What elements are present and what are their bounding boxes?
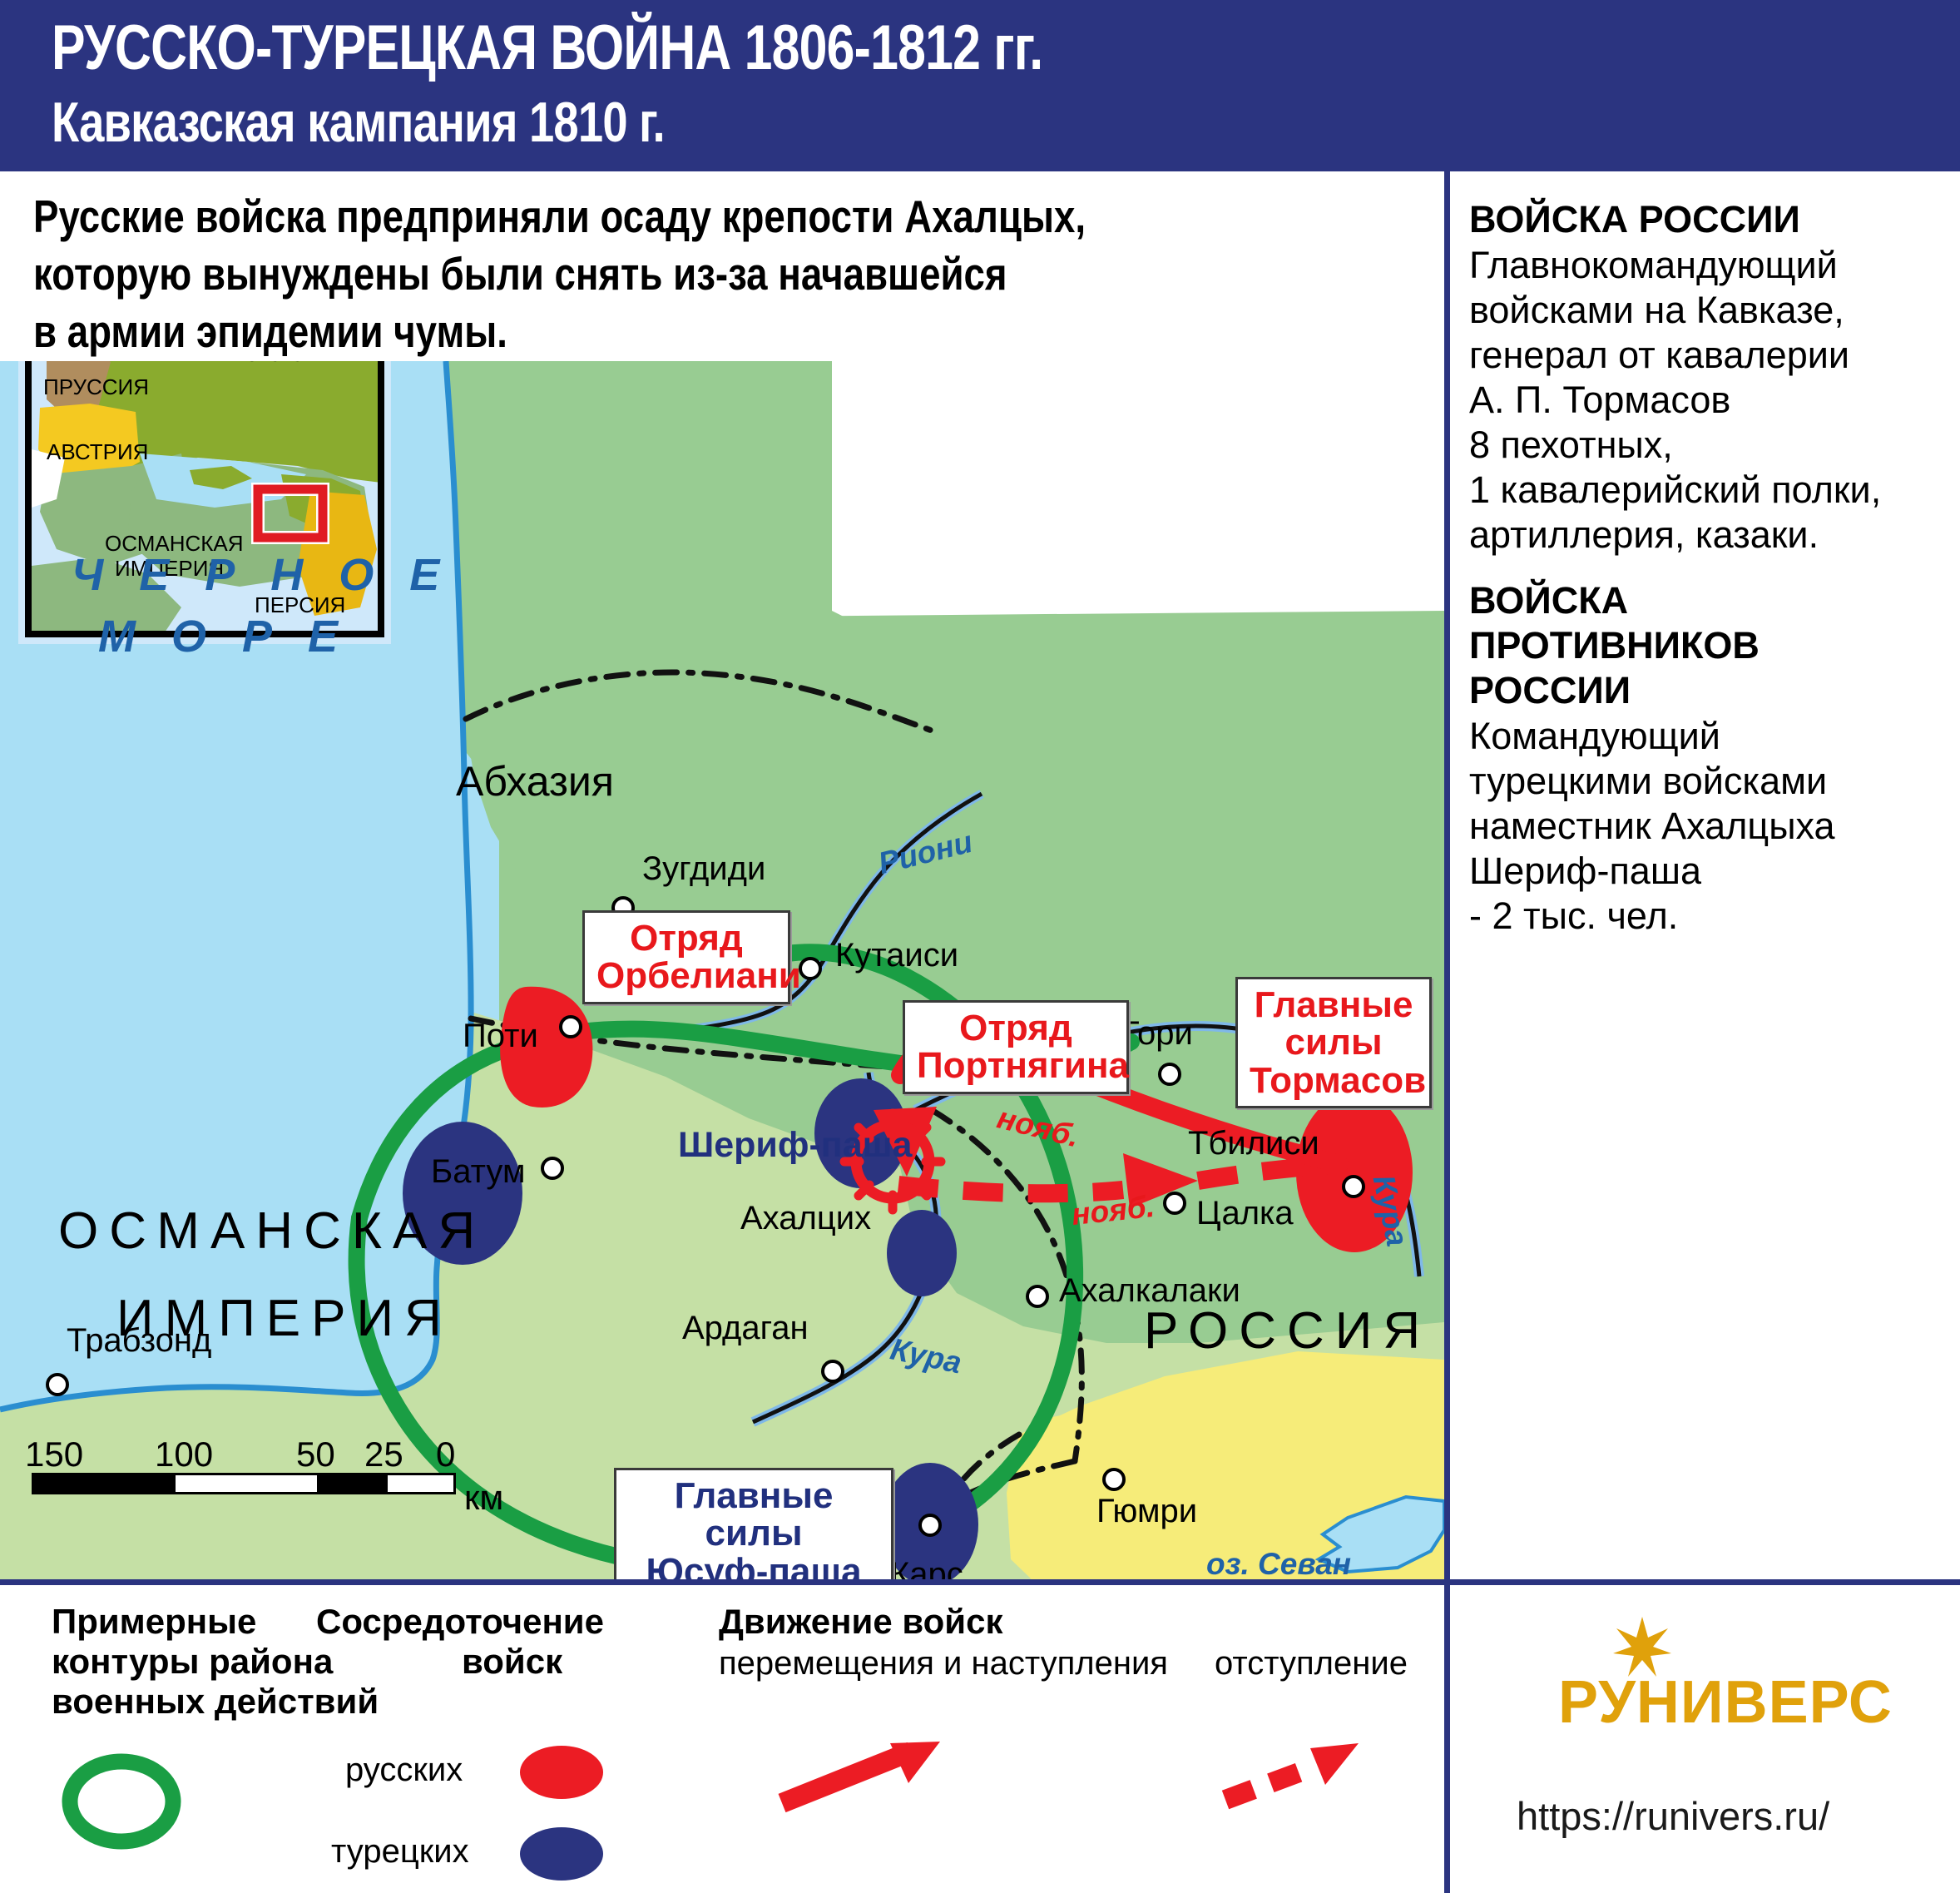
forces-sidebar: ВОЙСКА РОССИИ Главнокомандующий войсками… — [1469, 198, 1952, 939]
force-box-yusuf-line1: Главные силы — [628, 1477, 879, 1553]
map-scale-bar: 150 100 50 25 0 км — [32, 1435, 456, 1494]
sidebar-spacer — [1469, 557, 1952, 579]
map-legend: Примерные контуры района военных действи… — [0, 1585, 1444, 1893]
city-dot-akhalkalaki[interactable] — [1026, 1285, 1049, 1308]
label-region-abkhazia: Абхазия — [456, 757, 614, 805]
inset-label-austria: АВСТРИЯ — [47, 439, 148, 465]
city-label-tbilisi: Тбилиси — [1188, 1125, 1319, 1162]
city-label-gori: Гори — [1121, 1015, 1193, 1053]
city-dot-tbilisi[interactable] — [1342, 1175, 1365, 1198]
header-banner: РУССКО-ТУРЕЦКАЯ ВОЙНА 1806-1812 гг. Кавк… — [0, 0, 1960, 171]
city-label-gyumri: Гюмри — [1096, 1493, 1197, 1530]
city-dot-trabzon[interactable] — [46, 1373, 69, 1396]
scale-bar-graphic — [32, 1473, 456, 1494]
legend-advance-arrow-icon — [774, 1727, 957, 1818]
city-label-zugdidi: Зугдиди — [642, 850, 765, 888]
russian-forces-line: А. П. Тормасов — [1469, 378, 1952, 423]
scale-unit-label: км — [464, 1478, 503, 1518]
intro-line-2: которую вынуждены были снять из-за начав… — [33, 245, 1180, 303]
enemy-forces-line: Командующий — [1469, 714, 1952, 759]
intro-line-1: Русские войска предприняли осаду крепост… — [33, 188, 1180, 245]
scale-tick-25: 25 — [364, 1435, 403, 1474]
city-label-ardahan: Ардаган — [682, 1310, 809, 1347]
city-dot-kars[interactable] — [918, 1514, 942, 1537]
inset-label-prussia: ПРУССИЯ — [43, 374, 149, 400]
legend-russian-force-icon — [516, 1743, 607, 1801]
city-dot-poti[interactable] — [559, 1015, 582, 1038]
force-box-orbeliani-line1: Отряд — [596, 919, 776, 957]
legend-item-turkish-label: турецких — [331, 1833, 469, 1871]
force-box-orbeliani[interactable]: Отряд Орбелиани — [582, 910, 790, 1004]
russian-forces-line: 1 кавалерийский полки, — [1469, 468, 1952, 513]
sidebar-bottom-divider — [1450, 1579, 1960, 1585]
force-box-portnyagin-line1: Отряд — [917, 1009, 1115, 1047]
page-title-line2: Кавказская кампания 1810 г. — [52, 90, 665, 155]
legend-col2-title-1: Сосредоточение — [316, 1602, 604, 1642]
city-label-kars: Карс — [890, 1556, 963, 1579]
vertical-divider — [1444, 171, 1450, 1893]
enemy-forces-line: - 2 тыс. чел. — [1469, 894, 1952, 939]
label-lake-sevan: оз. Севан — [1206, 1547, 1351, 1579]
city-dot-batum[interactable] — [541, 1157, 564, 1180]
page-title-line1: РУССКО-ТУРЕЦКАЯ ВОЙНА 1806-1812 гг. — [52, 12, 1042, 84]
russian-forces-line: Главнокомандующий — [1469, 243, 1952, 288]
legend-area-contour-icon — [55, 1747, 188, 1856]
label-country-ottoman-1: ОСМАНСКАЯ — [58, 1202, 486, 1261]
city-label-trabzon: Трабзонд — [67, 1322, 211, 1360]
label-sherif-pasha: Шериф-паша — [678, 1125, 912, 1166]
force-box-tormasov-line2: силы — [1250, 1023, 1418, 1061]
city-dot-kutaisi[interactable] — [799, 957, 822, 980]
legend-col3-title: Движение войск — [719, 1602, 1002, 1642]
force-box-yusuf-line2: Юсуф-паша — [628, 1553, 879, 1579]
legend-col1-title-2: контуры района — [52, 1642, 333, 1682]
force-box-tormasov-line3: Тормасов — [1250, 1062, 1418, 1099]
legend-divider — [0, 1579, 1444, 1585]
city-label-tsalka: Цалка — [1196, 1195, 1294, 1232]
enemy-forces-line: наместник Ахалцыха — [1469, 804, 1952, 849]
russian-forces-line: войсками на Кавказе, — [1469, 288, 1952, 333]
city-label-akhalkalaki: Ахалкалаки — [1059, 1272, 1240, 1310]
legend-col3-sub-retreat: отступление — [1215, 1645, 1408, 1682]
enemy-forces-line: турецкими войсками — [1469, 759, 1952, 804]
city-label-kutaisi: Кутаиси — [835, 937, 958, 974]
scale-tick-50: 50 — [296, 1435, 335, 1474]
russian-forces-line: генерал от кавалерии — [1469, 333, 1952, 378]
inset-label-russia: РОССИЯ — [223, 361, 356, 367]
city-label-batum: Батум — [431, 1153, 525, 1191]
scale-tick-labels: 150 100 50 25 0 — [32, 1435, 456, 1473]
city-dot-gyumri[interactable] — [1102, 1468, 1126, 1491]
label-country-russia: РОССИЯ — [1144, 1301, 1431, 1360]
runivers-url[interactable]: https://runivers.ru/ — [1517, 1793, 1829, 1839]
russian-forces-line: 8 пехотных, — [1469, 423, 1952, 468]
enemy-forces-heading-line: ПРОТИВНИКОВ — [1469, 624, 1952, 667]
legend-col1-title-3: военных действий — [52, 1682, 379, 1722]
legend-col2-title-2: войск — [462, 1642, 562, 1682]
city-label-poti: Поти — [463, 1018, 538, 1055]
runivers-wordmark-text: РУНИВЕРС — [1558, 1669, 1893, 1736]
legend-col1-title-1: Примерные — [52, 1602, 256, 1642]
campaign-map[interactable]: РОССИЯ ПРУССИЯ АВСТРИЯ ОСМАНСКАЯ ИМПЕРИЯ… — [0, 361, 1444, 1579]
city-dot-ardahan[interactable] — [821, 1360, 844, 1383]
legend-retreat-arrow-icon — [1219, 1727, 1385, 1818]
legend-item-russian-label: русских — [345, 1752, 463, 1789]
scale-tick-150: 150 — [25, 1435, 83, 1474]
city-dot-gori[interactable] — [1158, 1063, 1181, 1086]
locator-inset-map: РОССИЯ ПРУССИЯ АВСТРИЯ ОСМАНСКАЯ ИМПЕРИЯ… — [18, 361, 391, 644]
enemy-forces-line: Шериф-паша — [1469, 849, 1952, 894]
legend-turkish-force-icon — [516, 1825, 607, 1883]
force-box-portnyagin[interactable]: Отряд Портнягина — [903, 1000, 1129, 1094]
runivers-wordmark: РУНИВЕРС — [1558, 1668, 1893, 1737]
scale-tick-100: 100 — [155, 1435, 213, 1474]
city-dot-tsalka[interactable] — [1163, 1192, 1186, 1215]
runivers-branding[interactable]: РУНИВЕРС https://runivers.ru/ — [1450, 1585, 1960, 1893]
enemy-forces-heading-line: РОССИИ — [1469, 669, 1952, 712]
russian-forces-heading: ВОЙСКА РОССИИ — [1469, 198, 1952, 241]
label-black-sea-line1: Ч Е Р Н О Е — [72, 549, 451, 601]
force-box-tormasov[interactable]: Главные силы Тормасов — [1235, 977, 1432, 1108]
force-box-orbeliani-line2: Орбелиани — [596, 957, 776, 994]
intro-paragraph: Русские войска предприняли осаду крепост… — [33, 188, 1414, 354]
force-box-yusuf-pasha[interactable]: Главные силы Юсуф-паша — [614, 1468, 893, 1579]
scale-tick-0: 0 — [436, 1435, 455, 1474]
force-box-tormasov-line1: Главные — [1250, 986, 1418, 1023]
russian-forces-line: артиллерия, казаки. — [1469, 513, 1952, 557]
label-black-sea-line2: М О Р Е — [98, 611, 349, 662]
intro-line-3: в армии эпидемии чумы. — [33, 303, 1180, 360]
enemy-forces-heading-line: ВОЙСКА — [1469, 579, 1952, 622]
legend-col3-sub-advance: перемещения и наступления — [719, 1645, 1168, 1682]
city-label-akhaltsikhe: Ахалцих — [740, 1200, 871, 1237]
force-box-portnyagin-line2: Портнягина — [917, 1047, 1115, 1084]
